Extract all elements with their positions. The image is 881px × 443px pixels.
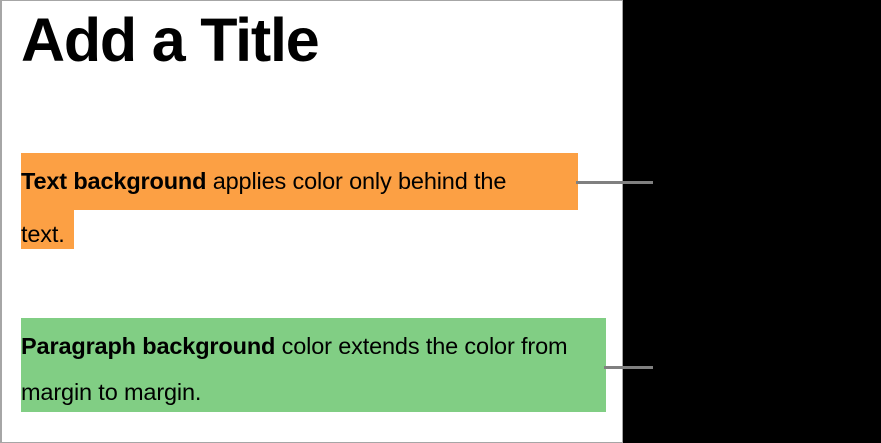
text-background-lead-label: Text background: [21, 168, 206, 194]
paragraph-background-rest-text: color extends the color: [275, 333, 514, 359]
screenshot-root: Add a Title Text background applies colo…: [0, 0, 881, 443]
callout-leader-line-paragraph-background: [604, 366, 653, 369]
paragraph-background-text: Paragraph background color extends the c…: [21, 323, 606, 415]
text-background-second-line: text.: [21, 210, 601, 258]
callout-leader-line-text-background: [576, 181, 653, 184]
document-page[interactable]: Add a Title Text background applies colo…: [0, 0, 623, 443]
document-title[interactable]: Add a Title: [21, 3, 319, 77]
paragraph-background-lead-label: Paragraph background: [21, 333, 275, 359]
outside-page-area: [623, 0, 881, 443]
text-background-paragraph[interactable]: Text background applies color only behin…: [21, 153, 601, 258]
paragraph-background-paragraph[interactable]: Paragraph background color extends the c…: [21, 318, 606, 412]
text-background-rest-text: applies color only behind the: [206, 168, 506, 194]
